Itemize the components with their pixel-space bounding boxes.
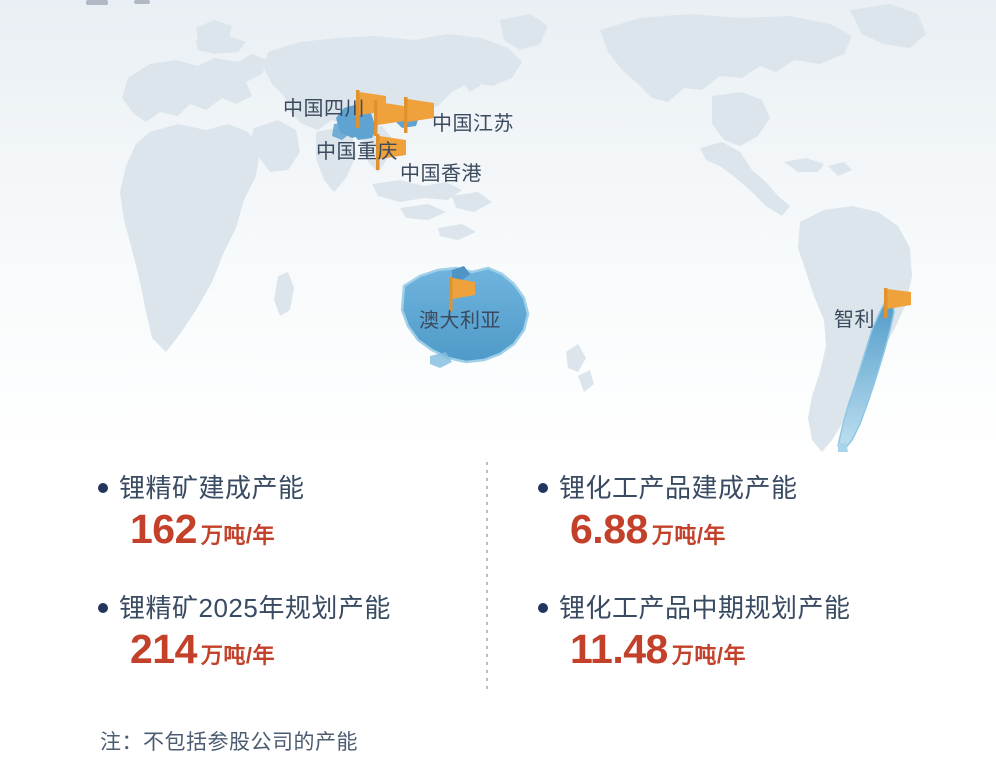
footnote: 注：不包括参股公司的产能 [100, 726, 358, 756]
map-label-australia: 澳大利亚 [419, 311, 501, 331]
infographic-page: 中国四川 中国江苏 中国重庆 中国香港 澳大利亚 智利 锂精矿建成产能 162 … [0, 0, 996, 776]
top-edge-artifact-2 [134, 0, 150, 4]
map-label-hongkong: 中国香港 [400, 164, 482, 184]
stat-label: 锂化工产品建成产能 [559, 474, 798, 503]
stat-value: 214 万吨/年 [130, 628, 391, 671]
bullet-icon [98, 483, 108, 493]
world-map-svg [0, 0, 996, 455]
stat-header: 锂化工产品建成产能 [538, 474, 798, 503]
stat-number: 11.48 [570, 628, 668, 671]
bullet-icon [98, 603, 108, 613]
stat-lithium-concentrate-built: 锂精矿建成产能 162 万吨/年 [98, 474, 305, 551]
stat-value: 6.88 万吨/年 [570, 508, 798, 551]
stat-header: 锂化工产品中期规划产能 [538, 594, 851, 623]
stat-lithium-chemical-midterm: 锂化工产品中期规划产能 11.48 万吨/年 [538, 594, 851, 671]
stat-label: 锂化工产品中期规划产能 [559, 594, 851, 623]
map-label-jiangsu: 中国江苏 [432, 114, 514, 134]
stat-unit: 万吨/年 [652, 524, 726, 547]
stat-label: 锂精矿建成产能 [119, 474, 305, 503]
map-label-sichuan: 中国四川 [283, 99, 365, 119]
stat-header: 锂精矿2025年规划产能 [98, 594, 391, 623]
bullet-icon [538, 603, 548, 613]
stat-label: 锂精矿2025年规划产能 [119, 594, 391, 623]
stat-lithium-concentrate-2025: 锂精矿2025年规划产能 214 万吨/年 [98, 594, 391, 671]
top-edge-artifact-1 [86, 0, 108, 5]
stat-number: 6.88 [570, 508, 648, 551]
stat-value: 11.48 万吨/年 [570, 628, 851, 671]
world-map: 中国四川 中国江苏 中国重庆 中国香港 澳大利亚 智利 [0, 0, 996, 455]
stat-number: 162 [130, 508, 197, 551]
stat-unit: 万吨/年 [201, 524, 275, 547]
column-divider [486, 462, 488, 694]
stat-unit: 万吨/年 [201, 644, 275, 667]
stat-lithium-chemical-built: 锂化工产品建成产能 6.88 万吨/年 [538, 474, 798, 551]
stat-number: 214 [130, 628, 197, 671]
map-label-chongqing: 中国重庆 [316, 142, 398, 162]
stat-unit: 万吨/年 [672, 644, 746, 667]
bullet-icon [538, 483, 548, 493]
map-label-chile: 智利 [834, 310, 875, 330]
statistics-section: 锂精矿建成产能 162 万吨/年 锂化工产品建成产能 6.88 万吨/年 锂精矿… [0, 452, 996, 702]
stat-value: 162 万吨/年 [130, 508, 305, 551]
stat-header: 锂精矿建成产能 [98, 474, 305, 503]
